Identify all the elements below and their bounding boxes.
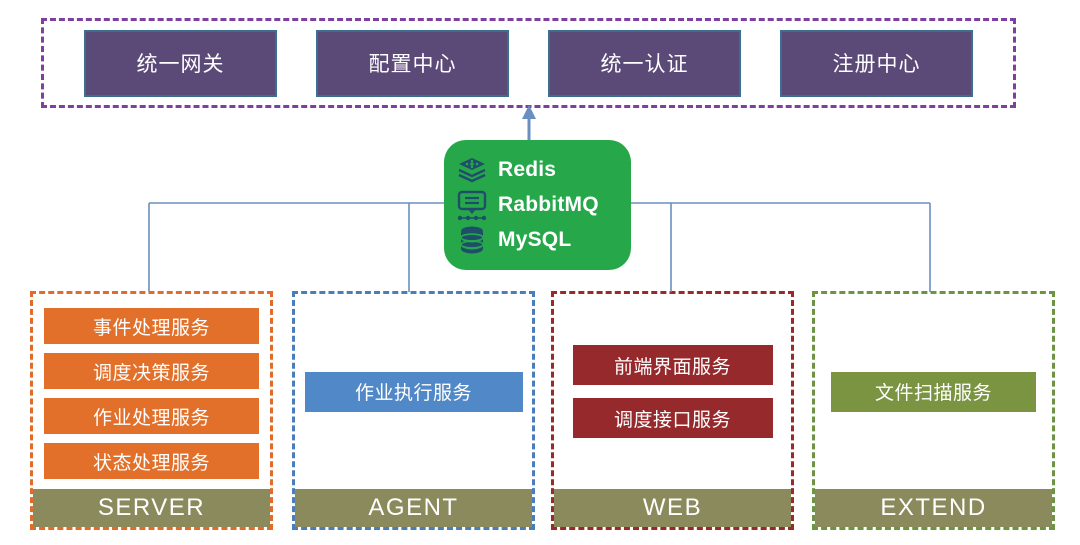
architecture-diagram-canvas: 统一网关 配置中心 统一认证 注册中心 bbox=[0, 0, 1080, 545]
platform-box-label: 统一网关 bbox=[137, 48, 225, 78]
module-tag-label: WEB bbox=[643, 494, 702, 522]
module-extend: 文件扫描服务 EXTEND bbox=[812, 291, 1055, 530]
module-tag-label: EXTEND bbox=[880, 494, 986, 522]
module-tag-label: AGENT bbox=[368, 494, 458, 522]
service-event-processing[interactable]: 事件处理服务 bbox=[44, 308, 259, 344]
middleware-item-redis[interactable]: Redis bbox=[456, 153, 631, 187]
service-label: 调度接口服务 bbox=[614, 405, 731, 432]
platform-band: 统一网关 配置中心 统一认证 注册中心 bbox=[41, 18, 1016, 108]
middleware-item-label: Redis bbox=[498, 158, 556, 182]
service-label: 调度决策服务 bbox=[93, 358, 210, 385]
module-server: 事件处理服务 调度决策服务 作业处理服务 状态处理服务 SERVER bbox=[30, 291, 273, 530]
module-tag-agent: AGENT bbox=[295, 489, 532, 527]
module-server-services: 事件处理服务 调度决策服务 作业处理服务 状态处理服务 bbox=[33, 294, 270, 489]
service-status-processing[interactable]: 状态处理服务 bbox=[44, 443, 259, 479]
platform-box-label: 注册中心 bbox=[833, 48, 921, 78]
module-tag-server: SERVER bbox=[33, 489, 270, 527]
module-columns: 事件处理服务 调度决策服务 作业处理服务 状态处理服务 SERVER 作 bbox=[0, 291, 1080, 531]
middleware-item-label: RabbitMQ bbox=[498, 193, 599, 217]
service-job-processing[interactable]: 作业处理服务 bbox=[44, 398, 259, 434]
service-scheduling-decision[interactable]: 调度决策服务 bbox=[44, 353, 259, 389]
service-file-scan[interactable]: 文件扫描服务 bbox=[831, 372, 1036, 412]
service-label: 事件处理服务 bbox=[93, 313, 210, 340]
module-agent: 作业执行服务 AGENT bbox=[292, 291, 535, 530]
module-extend-services: 文件扫描服务 bbox=[815, 294, 1052, 489]
platform-box-unified-auth[interactable]: 统一认证 bbox=[548, 30, 741, 97]
module-agent-services: 作业执行服务 bbox=[295, 294, 532, 489]
module-web-services: 前端界面服务 调度接口服务 bbox=[554, 294, 791, 489]
rabbitmq-message-icon bbox=[456, 189, 488, 221]
module-tag-web: WEB bbox=[554, 489, 791, 527]
middleware-item-rabbitmq[interactable]: RabbitMQ bbox=[456, 188, 631, 222]
middleware-item-label: MySQL bbox=[498, 228, 571, 252]
middleware-box: Redis RabbitMQ bbox=[444, 140, 631, 270]
service-frontend-ui[interactable]: 前端界面服务 bbox=[573, 345, 773, 385]
module-tag-extend: EXTEND bbox=[815, 489, 1052, 527]
platform-box-config-center[interactable]: 配置中心 bbox=[316, 30, 509, 97]
service-scheduling-api[interactable]: 调度接口服务 bbox=[573, 398, 773, 438]
platform-box-label: 配置中心 bbox=[369, 48, 457, 78]
module-web: 前端界面服务 调度接口服务 WEB bbox=[551, 291, 794, 530]
module-tag-label: SERVER bbox=[98, 494, 205, 522]
platform-box-registry-center[interactable]: 注册中心 bbox=[780, 30, 973, 97]
service-job-execution[interactable]: 作业执行服务 bbox=[305, 372, 523, 412]
service-label: 文件扫描服务 bbox=[875, 378, 992, 405]
mysql-database-icon bbox=[456, 224, 488, 256]
service-label: 作业执行服务 bbox=[355, 378, 472, 405]
redis-stack-icon bbox=[456, 154, 488, 186]
service-label: 前端界面服务 bbox=[614, 352, 731, 379]
service-label: 作业处理服务 bbox=[93, 403, 210, 430]
platform-box-gateway[interactable]: 统一网关 bbox=[84, 30, 277, 97]
platform-box-label: 统一认证 bbox=[601, 48, 689, 78]
middleware-item-mysql[interactable]: MySQL bbox=[456, 223, 631, 257]
service-label: 状态处理服务 bbox=[93, 448, 210, 475]
